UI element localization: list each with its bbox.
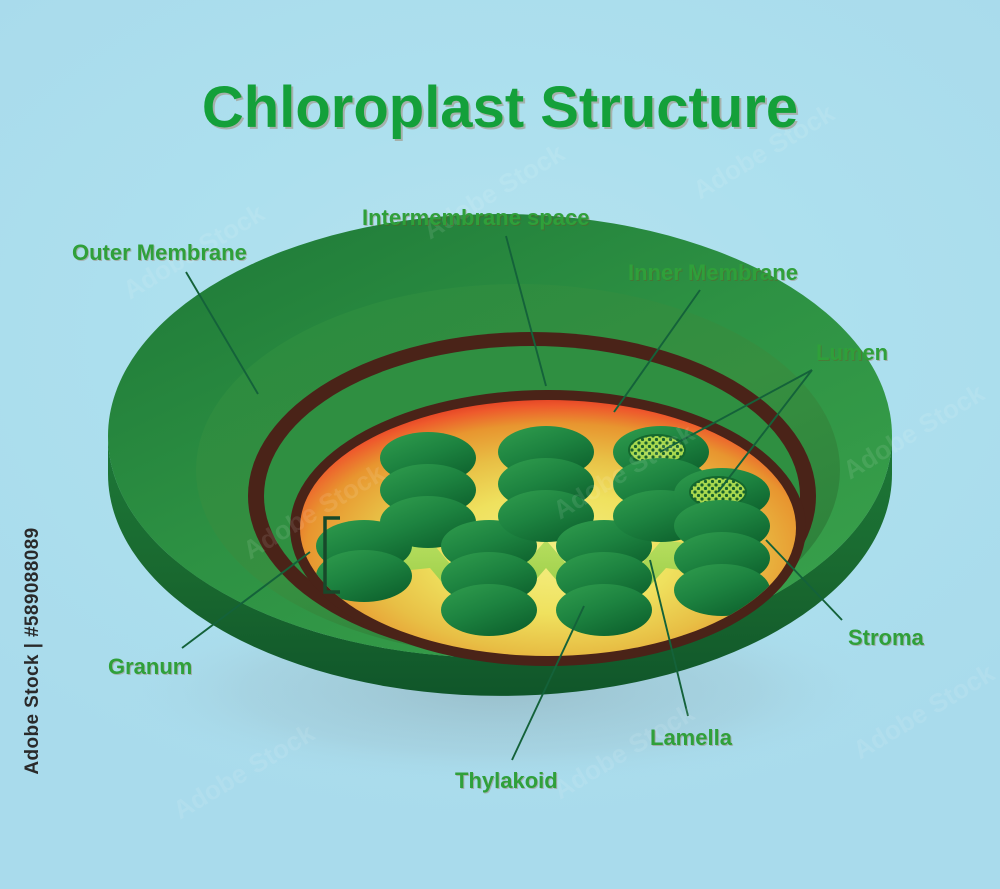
label-thylakoid: Thylakoid <box>455 768 558 794</box>
granum-stack-7[interactable] <box>674 468 770 616</box>
label-inner-membrane: Inner Membrane <box>628 260 798 286</box>
label-granum: Granum <box>108 654 192 680</box>
label-intermembrane-space: Intermembrane space <box>362 205 589 231</box>
thylakoid-disc <box>556 584 652 636</box>
page-title: Chloroplast Structure <box>0 74 1000 141</box>
label-stroma: Stroma <box>848 625 924 651</box>
label-lamella: Lamella <box>650 725 732 751</box>
label-lumen: Lumen <box>816 340 888 366</box>
chloroplast-diagram-canvas: Adobe Stock Adobe Stock Adobe Stock Adob… <box>0 0 1000 889</box>
label-outer-membrane: Outer Membrane <box>72 240 247 266</box>
stock-credit: Adobe Stock | #589088089 <box>22 526 44 776</box>
thylakoid-disc <box>441 584 537 636</box>
